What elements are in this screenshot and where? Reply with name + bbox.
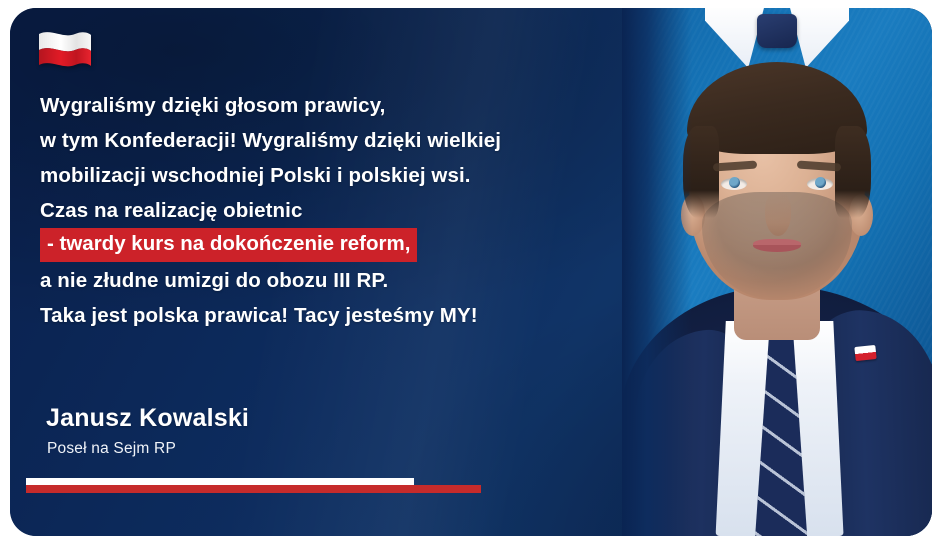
- shirt-collar-right: [789, 8, 849, 68]
- quote-line-4: Czas na realizację obietnic: [40, 193, 640, 228]
- shirt-collar-left: [705, 8, 765, 68]
- quote-line-3: mobilizacji wschodniej Polski i polskiej…: [40, 158, 640, 193]
- hair-side-right: [835, 126, 871, 218]
- card-footer: PiS Solidarna Polska: [10, 478, 932, 536]
- polish-flag-icon: [37, 27, 93, 73]
- quote-highlight-text: - twardy kurs na dokończenie reform,: [40, 228, 417, 262]
- mouth: [753, 239, 801, 252]
- quote-highlight-row: - twardy kurs na dokończenie reform,: [40, 228, 640, 263]
- quote-line-1: Wygraliśmy dzięki głosom prawicy,: [40, 88, 640, 123]
- politician-portrait: [622, 8, 932, 536]
- quote-card: Wygraliśmy dzięki głosom prawicy, w tym …: [10, 8, 932, 536]
- quote-line-7: Taka jest polska prawica! Tacy jesteśmy …: [40, 298, 640, 333]
- necktie-knot: [757, 14, 797, 48]
- person-name: Janusz Kowalski: [46, 404, 249, 433]
- quote-line-2: w tym Konfederacji! Wygraliśmy dzięki wi…: [40, 123, 640, 158]
- person-role: Poseł na Sejm RP: [47, 440, 176, 458]
- polish-flag-lapel-pin-icon: [854, 345, 876, 361]
- iris-right: [815, 177, 826, 188]
- nose: [765, 192, 791, 236]
- quote-block: Wygraliśmy dzięki głosom prawicy, w tym …: [40, 88, 640, 333]
- iris-left: [729, 177, 740, 188]
- quote-line-6: a nie złudne umizgi do obozu III RP.: [40, 263, 640, 298]
